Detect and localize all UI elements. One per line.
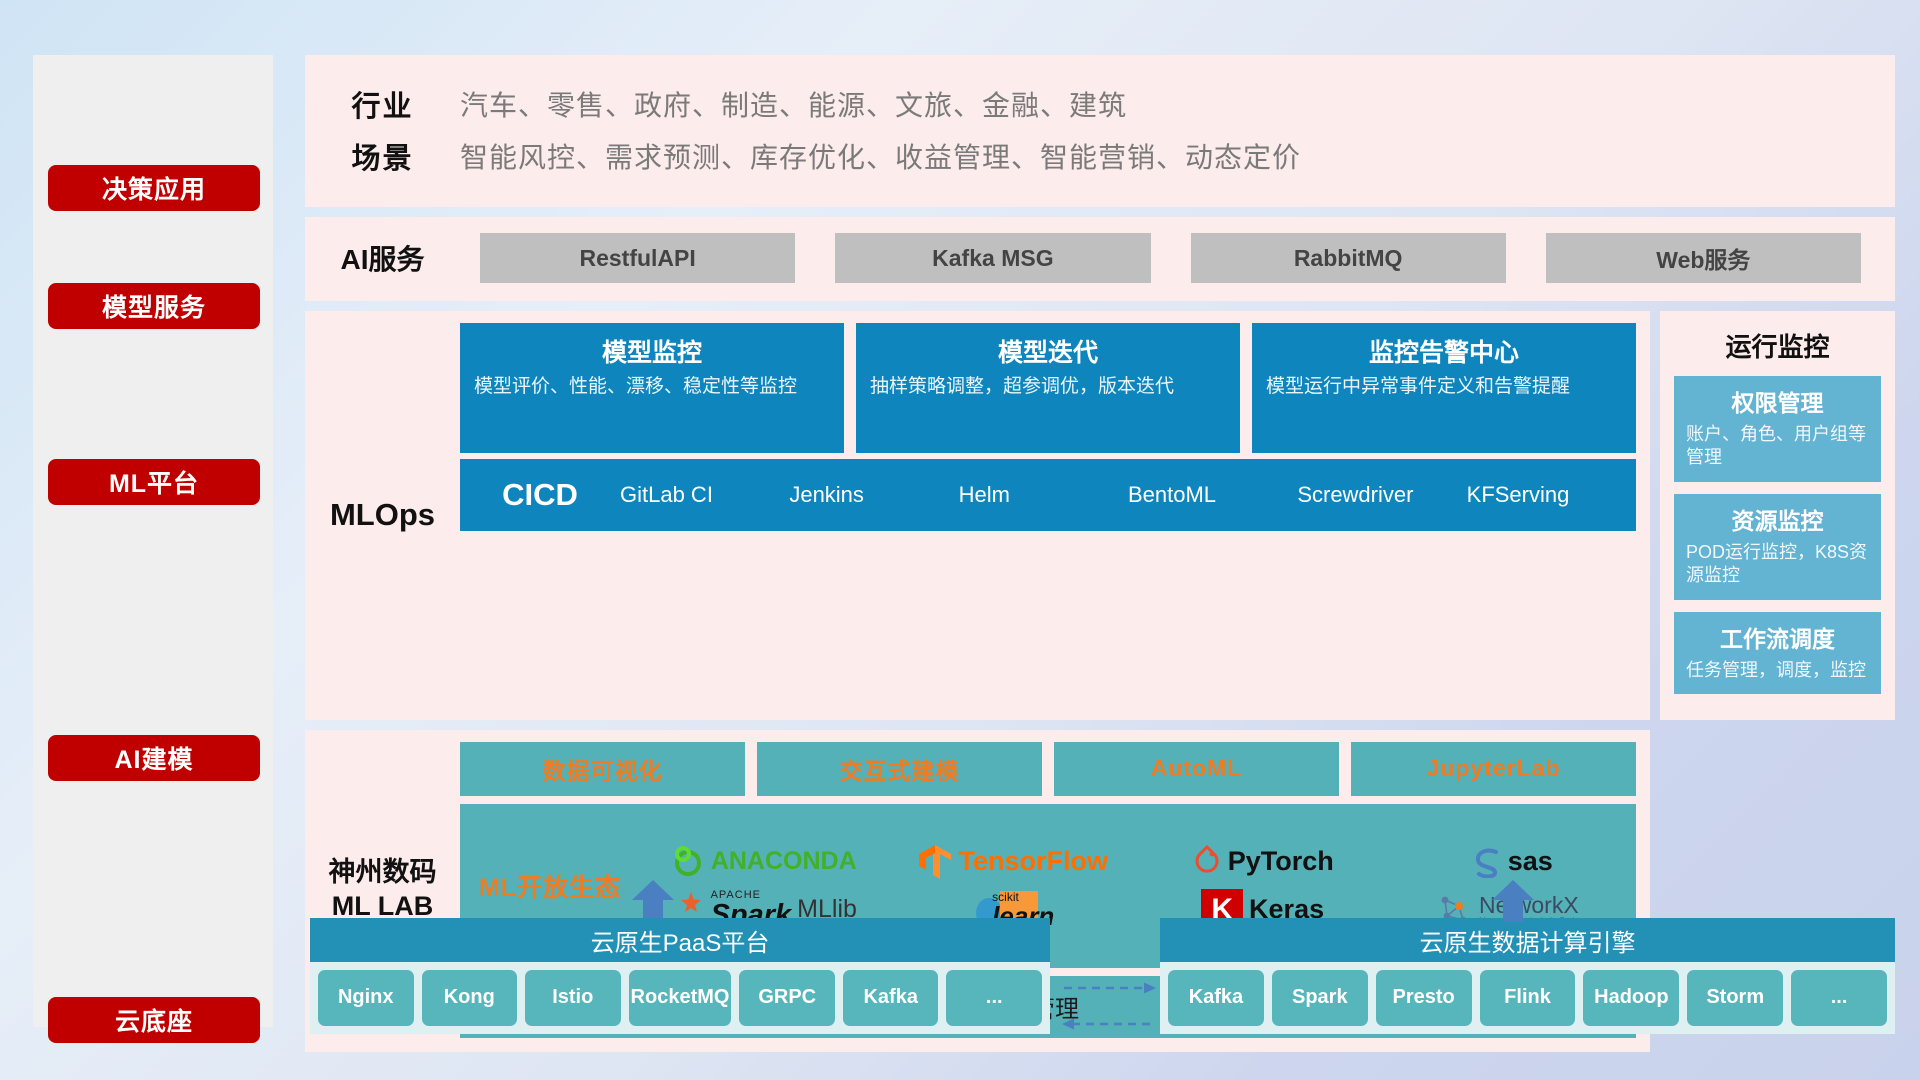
- logo-tensorflow-text: TensorFlow: [958, 846, 1108, 877]
- bidirectional-dashed-connector: [1060, 976, 1158, 1036]
- cloud-chip-nginx[interactable]: Nginx: [318, 970, 414, 1026]
- ai-service-chip-rabbitmq[interactable]: RabbitMQ: [1191, 233, 1506, 283]
- monitor-card-title: 资源监控: [1686, 502, 1869, 536]
- ai-service-label: AI服务: [305, 238, 460, 278]
- rail-item-label: AI建模: [114, 740, 193, 776]
- monitor-card-title: 工作流调度: [1686, 620, 1869, 654]
- up-arrow-icon-right: [1490, 880, 1536, 922]
- industry-values: 汽车、零售、政府、制造、能源、文旅、金融、建筑: [460, 84, 1127, 124]
- cicd-item-kfserving[interactable]: KFServing: [1467, 483, 1636, 506]
- monitor-card-desc: 账户、角色、用户组等管理: [1686, 423, 1869, 470]
- industry-row: 行业 汽车、零售、政府、制造、能源、文旅、金融、建筑: [305, 83, 1895, 125]
- mlops-label: MLOps: [305, 323, 460, 708]
- up-arrow-icon-left: [630, 880, 676, 922]
- logo-anaconda-text: ANACONDA: [711, 847, 857, 876]
- cloud-chip-more-right[interactable]: ...: [1791, 970, 1887, 1026]
- cloud-chip-kong[interactable]: Kong: [422, 970, 518, 1026]
- decision-application-band: 行业 汽车、零售、政府、制造、能源、文旅、金融、建筑 场景 智能风控、需求预测、…: [305, 55, 1895, 207]
- rail-item-model-service[interactable]: 模型服务: [48, 283, 260, 329]
- runtime-monitoring-band: 运行监控 权限管理 账户、角色、用户组等管理 资源监控 POD运行监控，K8S资…: [1660, 311, 1895, 720]
- logo-sas-text: sas: [1508, 846, 1553, 877]
- sas-icon: [1472, 846, 1502, 878]
- rail-item-label: 决策应用: [102, 170, 206, 206]
- mlops-content: 模型监控 模型评价、性能、漂移、稳定性等监控 模型迭代 抽样策略调整，超参调优，…: [460, 323, 1650, 708]
- cloud-chip-grpc[interactable]: GRPC: [739, 970, 835, 1026]
- mlops-band: MLOps 模型监控 模型评价、性能、漂移、稳定性等监控 模型迭代 抽样策略调整…: [305, 311, 1650, 720]
- cloud-foundation-band: 云原生PaaS平台 Nginx Kong Istio RocketMQ GRPC…: [305, 880, 1895, 1075]
- industry-label: 行业: [305, 83, 460, 125]
- rail-item-label: 云底座: [115, 1002, 193, 1038]
- mlops-card-title: 监控告警中心: [1266, 333, 1622, 369]
- mlops-card-list: 模型监控 模型评价、性能、漂移、稳定性等监控 模型迭代 抽样策略调整，超参调优，…: [460, 323, 1636, 453]
- cicd-item-list: GitLab CI Jenkins Helm BentoML Screwdriv…: [620, 483, 1636, 506]
- anaconda-icon: [671, 845, 705, 879]
- modeling-tool-jupyterlab[interactable]: JupyterLab: [1351, 742, 1636, 796]
- ml-platform-row: MLOps 模型监控 模型评价、性能、漂移、稳定性等监控 模型迭代 抽样策略调整…: [305, 311, 1895, 720]
- tensorflow-icon: [918, 843, 952, 881]
- cicd-item-gitlab-ci[interactable]: GitLab CI: [620, 483, 789, 506]
- runtime-monitoring-title: 运行监控: [1674, 327, 1881, 364]
- cicd-item-helm[interactable]: Helm: [959, 483, 1128, 506]
- cicd-item-screwdriver[interactable]: Screwdriver: [1297, 483, 1466, 506]
- cloud-native-data-engine-chip-list: Kafka Spark Presto Flink Hadoop Storm ..…: [1160, 962, 1895, 1034]
- ai-service-band: AI服务 RestfulAPI Kafka MSG RabbitMQ Web服务: [305, 217, 1895, 301]
- cloud-native-data-engine-group: 云原生数据计算引擎 Kafka Spark Presto Flink Hadoo…: [1160, 918, 1895, 1034]
- cloud-chip-more-left[interactable]: ...: [946, 970, 1042, 1026]
- ai-service-chip-restfulapi[interactable]: RestfulAPI: [480, 233, 795, 283]
- cloud-chip-rocketmq[interactable]: RocketMQ: [629, 970, 732, 1026]
- mlops-card-desc: 模型评价、性能、漂移、稳定性等监控: [474, 375, 830, 399]
- rail-item-cloud-base[interactable]: 云底座: [48, 997, 260, 1043]
- rail-item-label: ML平台: [109, 464, 199, 500]
- cicd-item-jenkins[interactable]: Jenkins: [789, 483, 958, 506]
- logo-pytorch: PyTorch: [1192, 845, 1334, 879]
- mlops-card-alert-center[interactable]: 监控告警中心 模型运行中异常事件定义和告警提醒: [1252, 323, 1636, 453]
- cloud-chip-hadoop[interactable]: Hadoop: [1583, 970, 1679, 1026]
- cloud-chip-istio[interactable]: Istio: [525, 970, 621, 1026]
- mlops-card-title: 模型迭代: [870, 333, 1226, 369]
- cloud-chip-kafka-right[interactable]: Kafka: [1168, 970, 1264, 1026]
- mlops-card-desc: 模型运行中异常事件定义和告警提醒: [1266, 375, 1622, 399]
- monitor-card-resource[interactable]: 资源监控 POD运行监控，K8S资源监控: [1674, 494, 1881, 600]
- pytorch-icon: [1192, 845, 1222, 879]
- modeling-tool-automl[interactable]: AutoML: [1054, 742, 1339, 796]
- monitor-card-desc: POD运行监控，K8S资源监控: [1686, 541, 1869, 588]
- cloud-native-paas-title: 云原生PaaS平台: [310, 918, 1050, 962]
- cloud-chip-spark[interactable]: Spark: [1272, 970, 1368, 1026]
- mlops-card-title: 模型监控: [474, 333, 830, 369]
- cloud-chip-storm[interactable]: Storm: [1687, 970, 1783, 1026]
- scenario-values: 智能风控、需求预测、库存优化、收益管理、智能营销、动态定价: [460, 136, 1301, 176]
- scenario-row: 场景 智能风控、需求预测、库存优化、收益管理、智能营销、动态定价: [305, 135, 1895, 177]
- left-rail: 决策应用 模型服务 ML平台 AI建模 云底座: [33, 55, 273, 1027]
- rail-item-ml-platform[interactable]: ML平台: [48, 459, 260, 505]
- modeling-tool-data-visualization[interactable]: 数据可视化: [460, 742, 745, 796]
- cicd-bar: CICD GitLab CI Jenkins Helm BentoML Scre…: [460, 459, 1636, 531]
- cicd-item-bentoml[interactable]: BentoML: [1128, 483, 1297, 506]
- monitor-card-permission[interactable]: 权限管理 账户、角色、用户组等管理: [1674, 376, 1881, 482]
- modeling-tool-interactive-modeling[interactable]: 交互式建模: [757, 742, 1042, 796]
- monitor-card-title: 权限管理: [1686, 384, 1869, 418]
- modeling-tool-list: 数据可视化 交互式建模 AutoML JupyterLab: [460, 742, 1636, 796]
- mlops-card-model-iteration[interactable]: 模型迭代 抽样策略调整，超参调优，版本迭代: [856, 323, 1240, 453]
- rail-item-label: 模型服务: [102, 288, 206, 324]
- logo-sas: sas: [1472, 846, 1553, 878]
- logo-anaconda: ANACONDA: [671, 845, 857, 879]
- rail-item-ai-modeling[interactable]: AI建模: [48, 735, 260, 781]
- logo-pytorch-text: PyTorch: [1228, 846, 1334, 877]
- scenario-label: 场景: [305, 135, 460, 177]
- cloud-chip-kafka[interactable]: Kafka: [843, 970, 939, 1026]
- rail-item-decision-app[interactable]: 决策应用: [48, 165, 260, 211]
- cloud-chip-flink[interactable]: Flink: [1480, 970, 1576, 1026]
- monitor-card-desc: 任务管理，调度，监控: [1686, 659, 1869, 682]
- monitor-card-workflow[interactable]: 工作流调度 任务管理，调度，监控: [1674, 612, 1881, 694]
- mlops-card-desc: 抽样策略调整，超参调优，版本迭代: [870, 375, 1226, 399]
- logo-tensorflow: TensorFlow: [918, 843, 1108, 881]
- cloud-native-paas-chip-list: Nginx Kong Istio RocketMQ GRPC Kafka ...: [310, 962, 1050, 1034]
- cloud-chip-presto[interactable]: Presto: [1376, 970, 1472, 1026]
- ai-service-chip-kafka-msg[interactable]: Kafka MSG: [835, 233, 1150, 283]
- cloud-native-data-engine-title: 云原生数据计算引擎: [1160, 918, 1895, 962]
- ai-service-chip-list: RestfulAPI Kafka MSG RabbitMQ Web服务: [460, 233, 1895, 283]
- mlops-card-model-monitoring[interactable]: 模型监控 模型评价、性能、漂移、稳定性等监控: [460, 323, 844, 453]
- cloud-native-paas-group: 云原生PaaS平台 Nginx Kong Istio RocketMQ GRPC…: [310, 918, 1050, 1034]
- cicd-title: CICD: [460, 477, 620, 513]
- ai-service-chip-web-service[interactable]: Web服务: [1546, 233, 1861, 283]
